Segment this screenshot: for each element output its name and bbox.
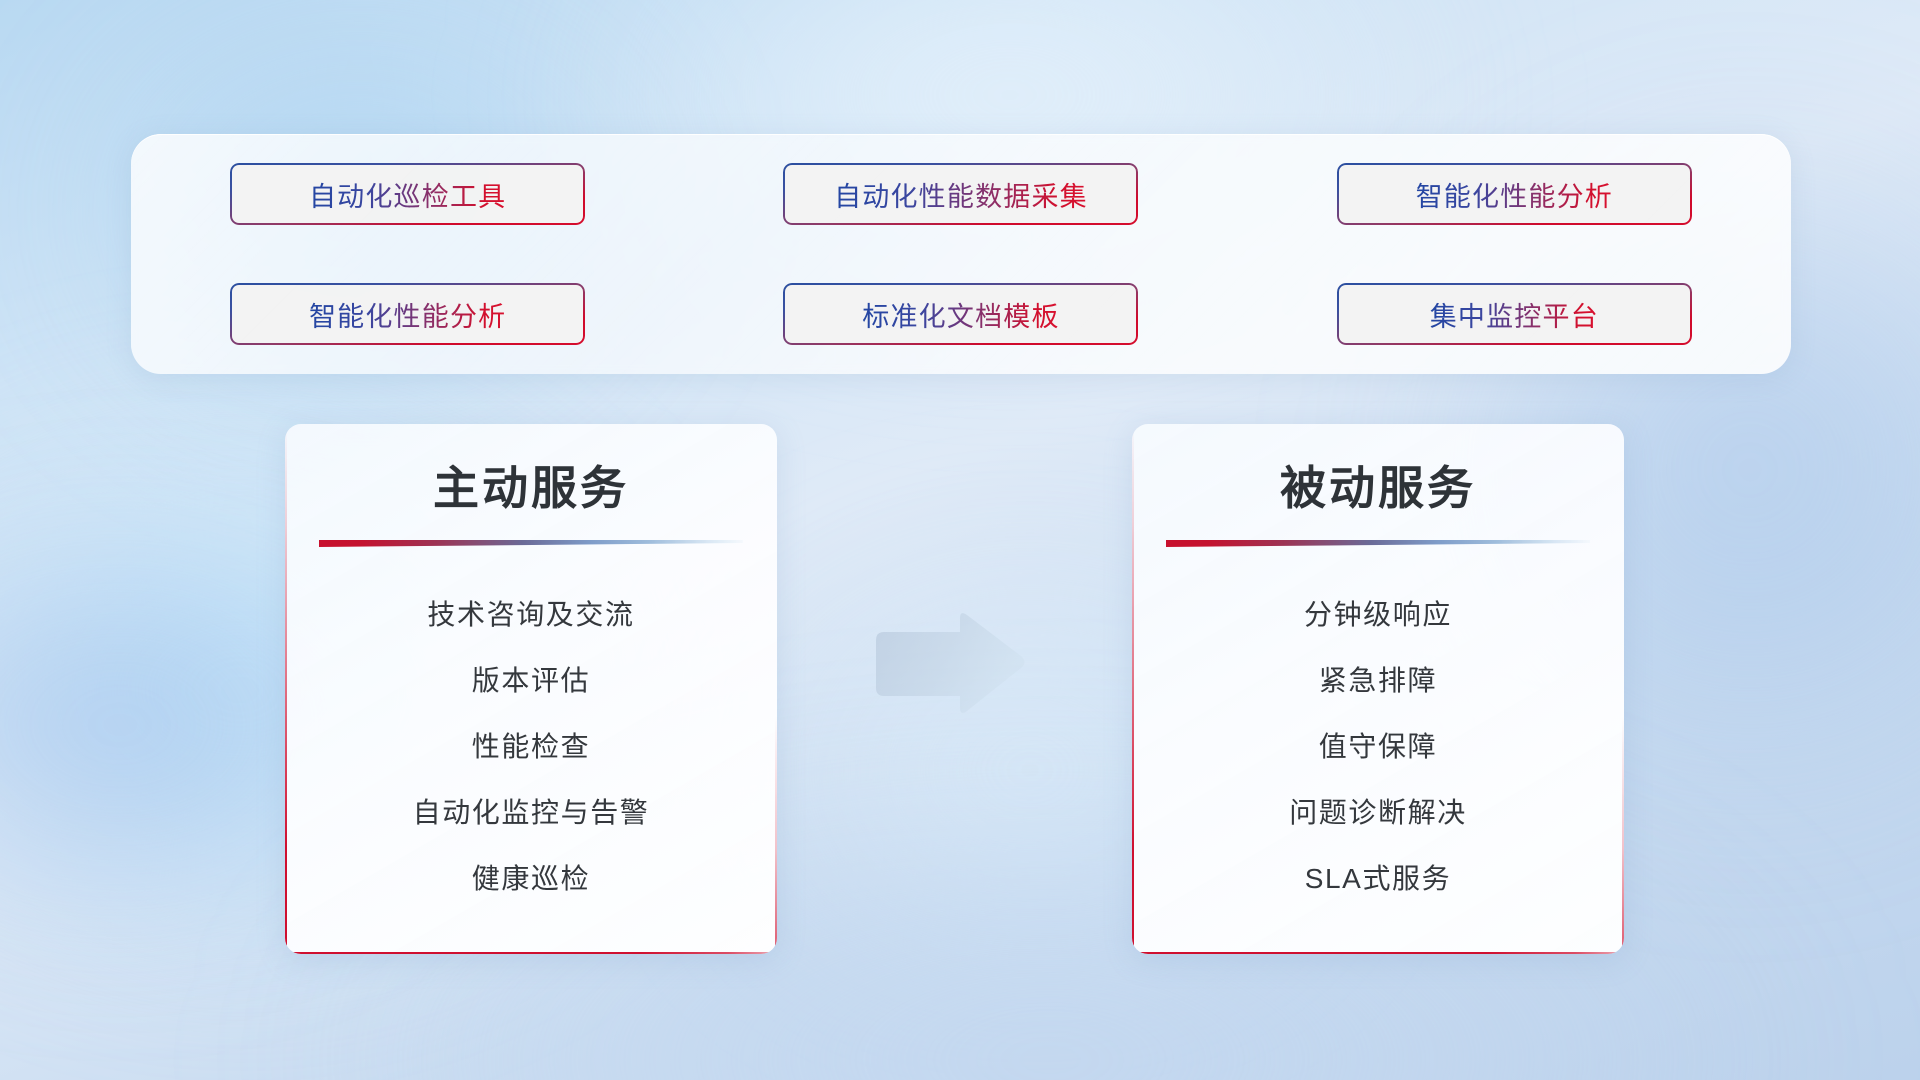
slide-canvas: 自动化巡检工具 自动化性能数据采集 智能化性能分析 智能化性能分析 标准化文档模… bbox=[0, 0, 1920, 1080]
capability-pill-4[interactable]: 智能化性能分析 bbox=[230, 283, 585, 345]
list-item: 紧急排障 bbox=[1319, 659, 1437, 699]
card-title-passive: 被动服务 bbox=[1132, 452, 1624, 518]
list-item: 版本评估 bbox=[472, 659, 590, 699]
card-accent-edge-right bbox=[775, 424, 777, 954]
capability-pill-1[interactable]: 自动化巡检工具 bbox=[230, 163, 585, 225]
card-list-active: 技术咨询及交流 版本评估 性能检查 自动化监控与告警 健康巡检 bbox=[285, 593, 777, 897]
capability-panel: 自动化巡检工具 自动化性能数据采集 智能化性能分析 智能化性能分析 标准化文档模… bbox=[131, 134, 1791, 374]
capability-pill-label: 自动化性能数据采集 bbox=[834, 175, 1088, 214]
card-accent-edge-bottom bbox=[285, 952, 777, 954]
list-item: SLA式服务 bbox=[1305, 857, 1452, 897]
list-item: 技术咨询及交流 bbox=[427, 593, 634, 633]
card-accent-edge-left bbox=[285, 424, 287, 954]
list-item: 性能检查 bbox=[472, 725, 590, 765]
capability-pill-5[interactable]: 标准化文档模板 bbox=[783, 283, 1138, 345]
capability-pill-6[interactable]: 集中监控平台 bbox=[1337, 283, 1692, 345]
card-divider-active bbox=[319, 540, 743, 547]
card-accent-edge-left bbox=[1132, 424, 1134, 954]
card-title-active: 主动服务 bbox=[285, 452, 777, 518]
service-card-passive[interactable]: 被动服务 分钟级响应 紧急排障 值守保障 问题诊断解决 SLA式服务 bbox=[1132, 424, 1624, 954]
list-item: 值守保障 bbox=[1319, 725, 1437, 765]
capability-pill-3[interactable]: 智能化性能分析 bbox=[1337, 163, 1692, 225]
capability-pill-2[interactable]: 自动化性能数据采集 bbox=[783, 163, 1138, 225]
card-accent-edge-bottom bbox=[1132, 952, 1624, 954]
list-item: 问题诊断解决 bbox=[1289, 791, 1467, 831]
card-list-passive: 分钟级响应 紧急排障 值守保障 问题诊断解决 SLA式服务 bbox=[1132, 593, 1624, 897]
capability-pill-label: 自动化巡检工具 bbox=[309, 175, 506, 214]
list-item: 健康巡检 bbox=[472, 857, 590, 897]
arrow-right-icon bbox=[868, 610, 1028, 720]
capability-pill-label: 集中监控平台 bbox=[1430, 295, 1599, 334]
capability-pill-label: 智能化性能分析 bbox=[1416, 175, 1613, 214]
card-accent-edge-right bbox=[1622, 424, 1624, 954]
capability-pill-label: 智能化性能分析 bbox=[309, 295, 506, 334]
card-divider-passive bbox=[1166, 540, 1590, 547]
list-item: 自动化监控与告警 bbox=[413, 791, 650, 831]
service-card-active[interactable]: 主动服务 技术咨询及交流 版本评估 性能检查 自动化监控与告警 健康巡检 bbox=[285, 424, 777, 954]
capability-pill-label: 标准化文档模板 bbox=[862, 295, 1059, 334]
list-item: 分钟级响应 bbox=[1304, 593, 1452, 633]
